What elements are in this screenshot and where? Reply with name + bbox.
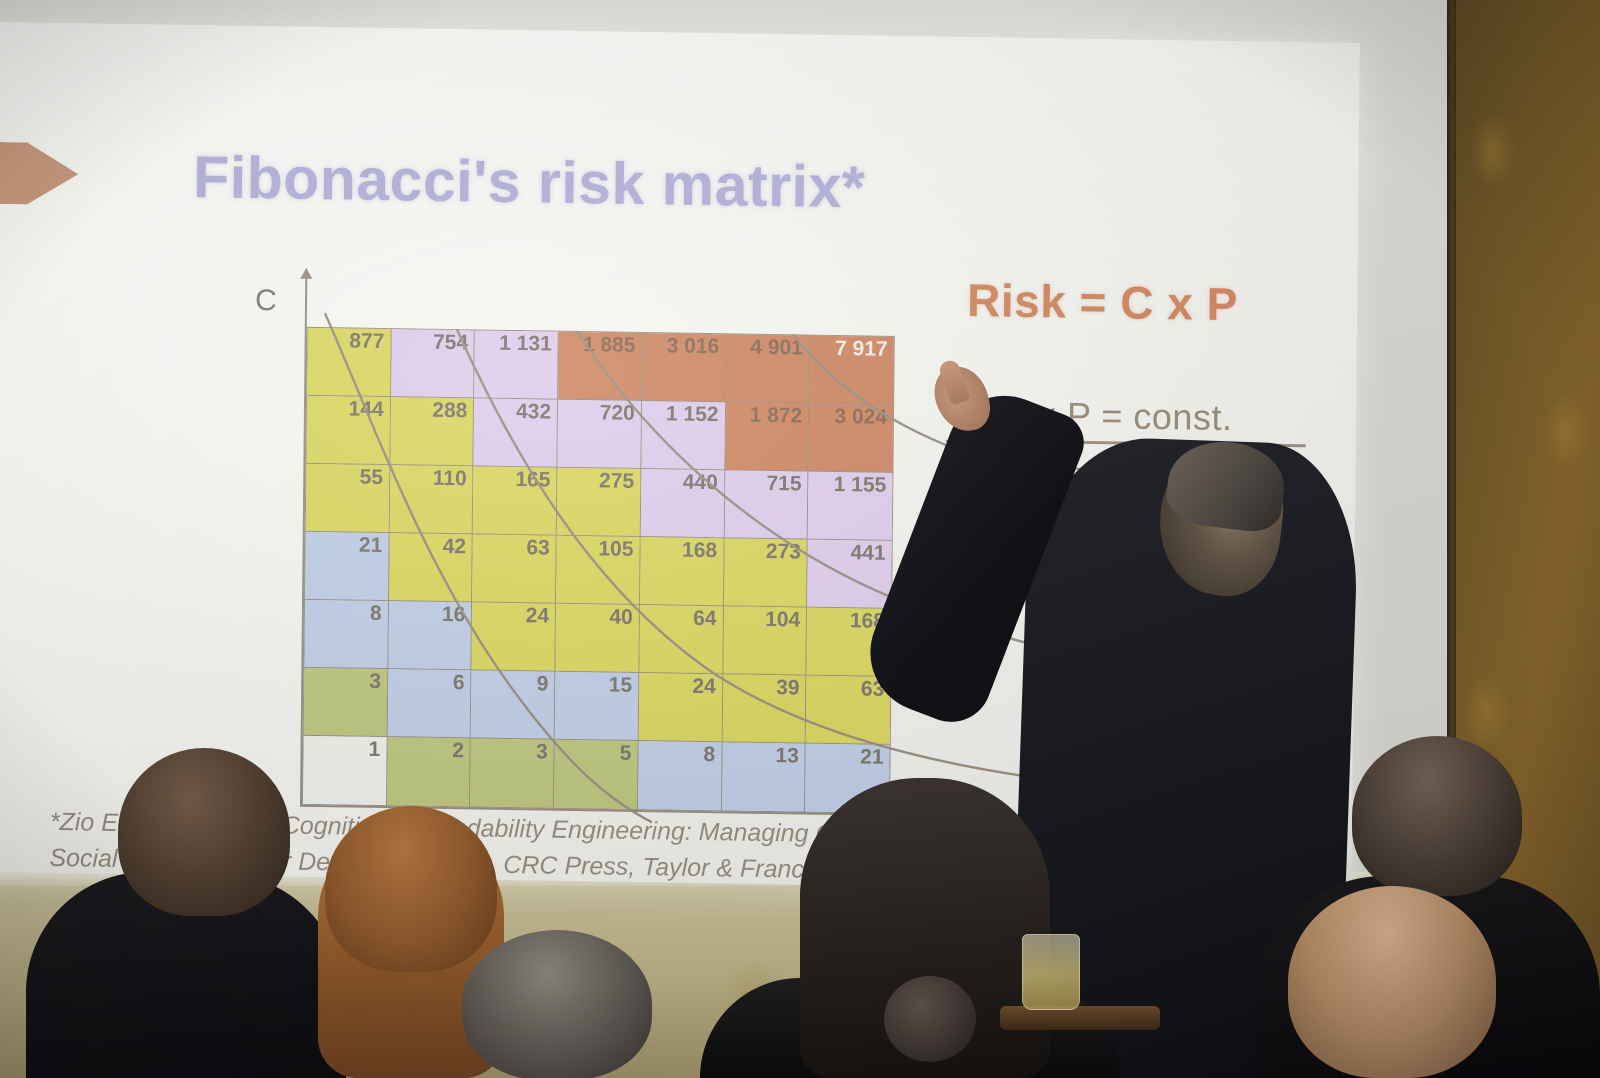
matrix-cell: 877 (307, 328, 391, 397)
matrix-cell: 165 (473, 466, 557, 535)
matrix-cell: 273 (724, 538, 808, 607)
matrix-cell: 24 (639, 673, 723, 742)
matrix-cell: 42 (389, 533, 473, 602)
matrix-cell: 1 (303, 736, 387, 805)
risk-matrix-grid: 8777541 1311 8853 0164 9017 917144288432… (302, 327, 895, 814)
audience-member-2-head (325, 806, 497, 972)
matrix-cell: 9 (471, 670, 555, 739)
matrix-cell: 21 (305, 532, 389, 601)
matrix-cell: 3 016 (642, 333, 726, 402)
matrix-cell: 288 (390, 397, 474, 466)
matrix-cell: 16 (388, 601, 472, 670)
chevron-decoration-icon (0, 140, 79, 205)
matrix-cell: 432 (474, 398, 558, 467)
matrix-cell: 275 (557, 468, 641, 537)
matrix-cell: 63 (472, 534, 556, 603)
conference-room-scene: Fibonacci's risk matrix* Risk = C x P C … (0, 0, 1600, 1078)
matrix-cell: 2 (387, 737, 471, 806)
matrix-cell: 110 (389, 465, 473, 534)
matrix-cell: 1 872 (725, 402, 809, 471)
matrix-cell: 4 901 (726, 334, 810, 403)
matrix-cell: 15 (555, 672, 639, 741)
audience-member-5-head (1288, 886, 1496, 1078)
matrix-cell: 3 024 (809, 404, 893, 473)
matrix-cell: 104 (723, 606, 807, 675)
matrix-cell: 168 (640, 537, 724, 606)
audience-member-6-head (1352, 736, 1522, 896)
matrix-cell: 441 (807, 540, 891, 609)
matrix-cell: 8 (304, 600, 388, 669)
matrix-cell: 1 152 (641, 401, 725, 470)
matrix-cell: 440 (641, 469, 725, 538)
audience-member-3-head (462, 930, 652, 1078)
matrix-cell: 13 (722, 742, 806, 811)
matrix-cell: 3 (470, 738, 554, 807)
matrix-cell: 144 (306, 396, 390, 465)
matrix-cell: 1 885 (558, 332, 642, 401)
matrix-cell: 6 (387, 669, 471, 738)
matrix-cell: 39 (722, 674, 806, 743)
matrix-cell: 754 (391, 329, 475, 398)
matrix-cell: 1 155 (808, 472, 892, 541)
matrix-cell: 3 (304, 668, 388, 737)
matrix-cell: 24 (472, 602, 556, 671)
matrix-cell: 63 (806, 676, 890, 745)
table-edge (1000, 1006, 1160, 1030)
matrix-cell: 8 (638, 741, 722, 810)
matrix-cell: 40 (556, 604, 640, 673)
axis-label-c: C (255, 284, 277, 318)
matrix-cell: 715 (724, 470, 808, 539)
audience-member-1-head (118, 748, 290, 916)
matrix-cell: 5 (554, 740, 638, 809)
matrix-cell: 1 131 (475, 330, 559, 399)
matrix-cell: 7 917 (809, 336, 893, 405)
drinking-glass (1022, 934, 1080, 1010)
slide-title: Fibonacci's risk matrix* (193, 143, 866, 221)
matrix-cell: 55 (306, 464, 390, 533)
matrix-cell: 64 (639, 605, 723, 674)
matrix-cell: 720 (558, 400, 642, 469)
matrix-cell: 105 (556, 536, 640, 605)
risk-formula: Risk = C x P (967, 273, 1238, 331)
audience-member-4-hair-bun (884, 976, 976, 1062)
